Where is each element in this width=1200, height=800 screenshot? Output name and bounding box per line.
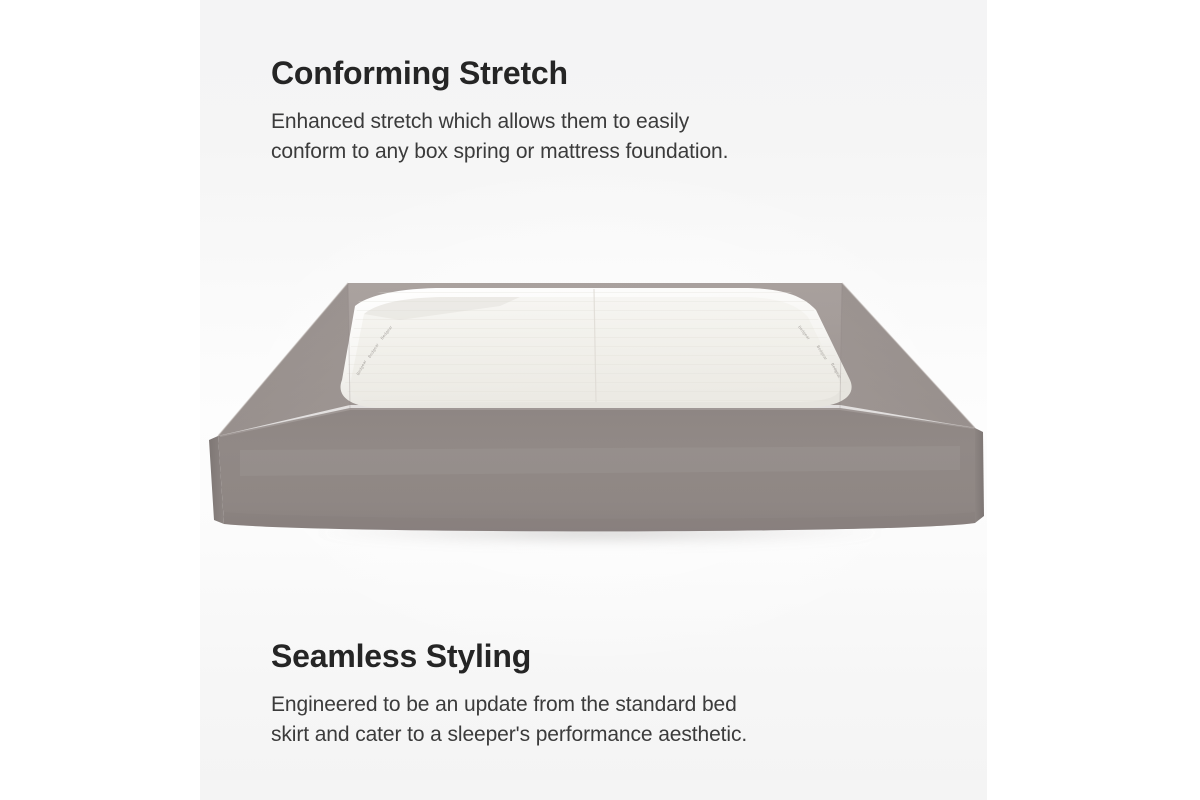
photo-canvas: Conforming Stretch Enhanced stretch whic…: [200, 0, 987, 800]
bottom-feature-body: Engineered to be an update from the stan…: [271, 690, 911, 750]
top-feature-heading: Conforming Stretch: [271, 55, 911, 93]
bottom-feature-heading: Seamless Styling: [271, 638, 911, 676]
bottom-feature-text-block: Seamless Styling Engineered to be an upd…: [271, 638, 911, 750]
top-feature-body: Enhanced stretch which allows them to ea…: [271, 107, 911, 167]
cover-right-end-face: [975, 428, 984, 523]
top-feature-text-block: Conforming Stretch Enhanced stretch whic…: [271, 55, 911, 167]
product-feature-graphic: Conforming Stretch Enhanced stretch whic…: [0, 0, 1200, 800]
